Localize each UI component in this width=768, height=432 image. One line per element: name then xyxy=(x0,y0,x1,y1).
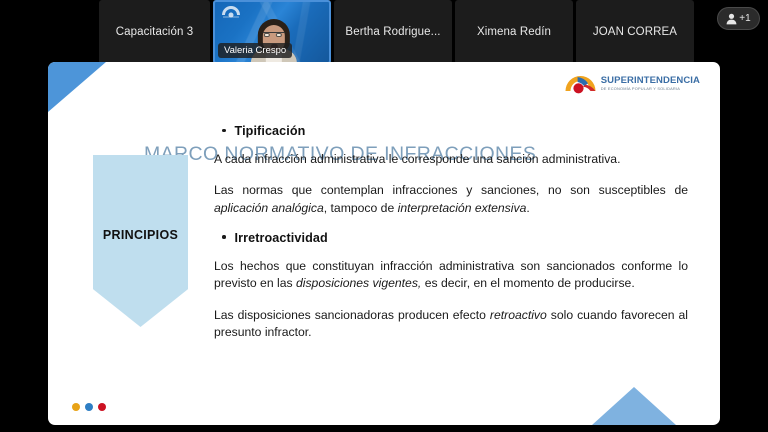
paragraph: Los hechos que constituyan infracción ad… xyxy=(214,258,688,293)
section-heading-text: Tipificación xyxy=(235,124,306,138)
presentation-slide: SUPERINTENDENCIA DE ECONOMÍA POPULAR Y S… xyxy=(48,62,720,425)
decoration-dot-red xyxy=(98,403,106,411)
participant-tile[interactable]: Bertha Rodrigue... xyxy=(334,0,452,64)
bottom-right-triangle-decoration xyxy=(592,387,676,425)
section-heading-text: Irretroactividad xyxy=(235,231,328,245)
paragraph: Las normas que contemplan infracciones y… xyxy=(214,182,688,217)
rainbow-arc-icon xyxy=(564,71,597,96)
bullet-dot-icon xyxy=(222,129,226,133)
logo-title: SUPERINTENDENCIA xyxy=(601,76,700,86)
participant-name: Ximena Redín xyxy=(477,26,551,38)
video-conference-strip: Capacitación 3 Valeria Crespo Bertha Rod… xyxy=(0,0,768,66)
top-left-triangle-decoration xyxy=(48,62,106,112)
bullet-heading: Tipificación xyxy=(214,124,688,138)
banner-label: PRINCIPIOS xyxy=(93,228,188,242)
participant-name: JOAN CORREA xyxy=(593,26,677,38)
slide-body-content: Tipificación A cada infracción administr… xyxy=(214,124,688,353)
decoration-dots xyxy=(72,403,106,411)
background-watermark-logo xyxy=(220,5,242,19)
participant-count-label: +1 xyxy=(739,13,750,24)
decoration-dot-orange xyxy=(72,403,80,411)
active-speaker-tile[interactable]: Valeria Crespo xyxy=(213,0,331,64)
participant-count-badge[interactable]: +1 xyxy=(717,7,760,30)
bullet-dot-icon xyxy=(222,235,226,239)
participant-tile[interactable]: Ximena Redín xyxy=(455,0,573,64)
person-icon xyxy=(726,13,737,25)
logo-subtitle: DE ECONOMÍA POPULAR Y SOLIDARIA xyxy=(601,87,700,91)
participant-tile[interactable]: JOAN CORREA xyxy=(576,0,694,64)
superintendencia-logo: SUPERINTENDENCIA DE ECONOMÍA POPULAR Y S… xyxy=(564,71,700,96)
participant-name: Bertha Rodrigue... xyxy=(345,26,440,38)
participant-tile[interactable]: Capacitación 3 xyxy=(99,0,210,64)
paragraph: Las disposiciones sancionadoras producen… xyxy=(214,307,688,342)
decoration-dot-blue xyxy=(85,403,93,411)
participant-name: Capacitación 3 xyxy=(116,26,193,38)
principios-banner: PRINCIPIOS xyxy=(93,155,188,327)
speaker-name-label: Valeria Crespo xyxy=(218,43,292,58)
paragraph: A cada infracción administrativa le corr… xyxy=(214,151,688,168)
bullet-heading: Irretroactividad xyxy=(214,231,688,245)
